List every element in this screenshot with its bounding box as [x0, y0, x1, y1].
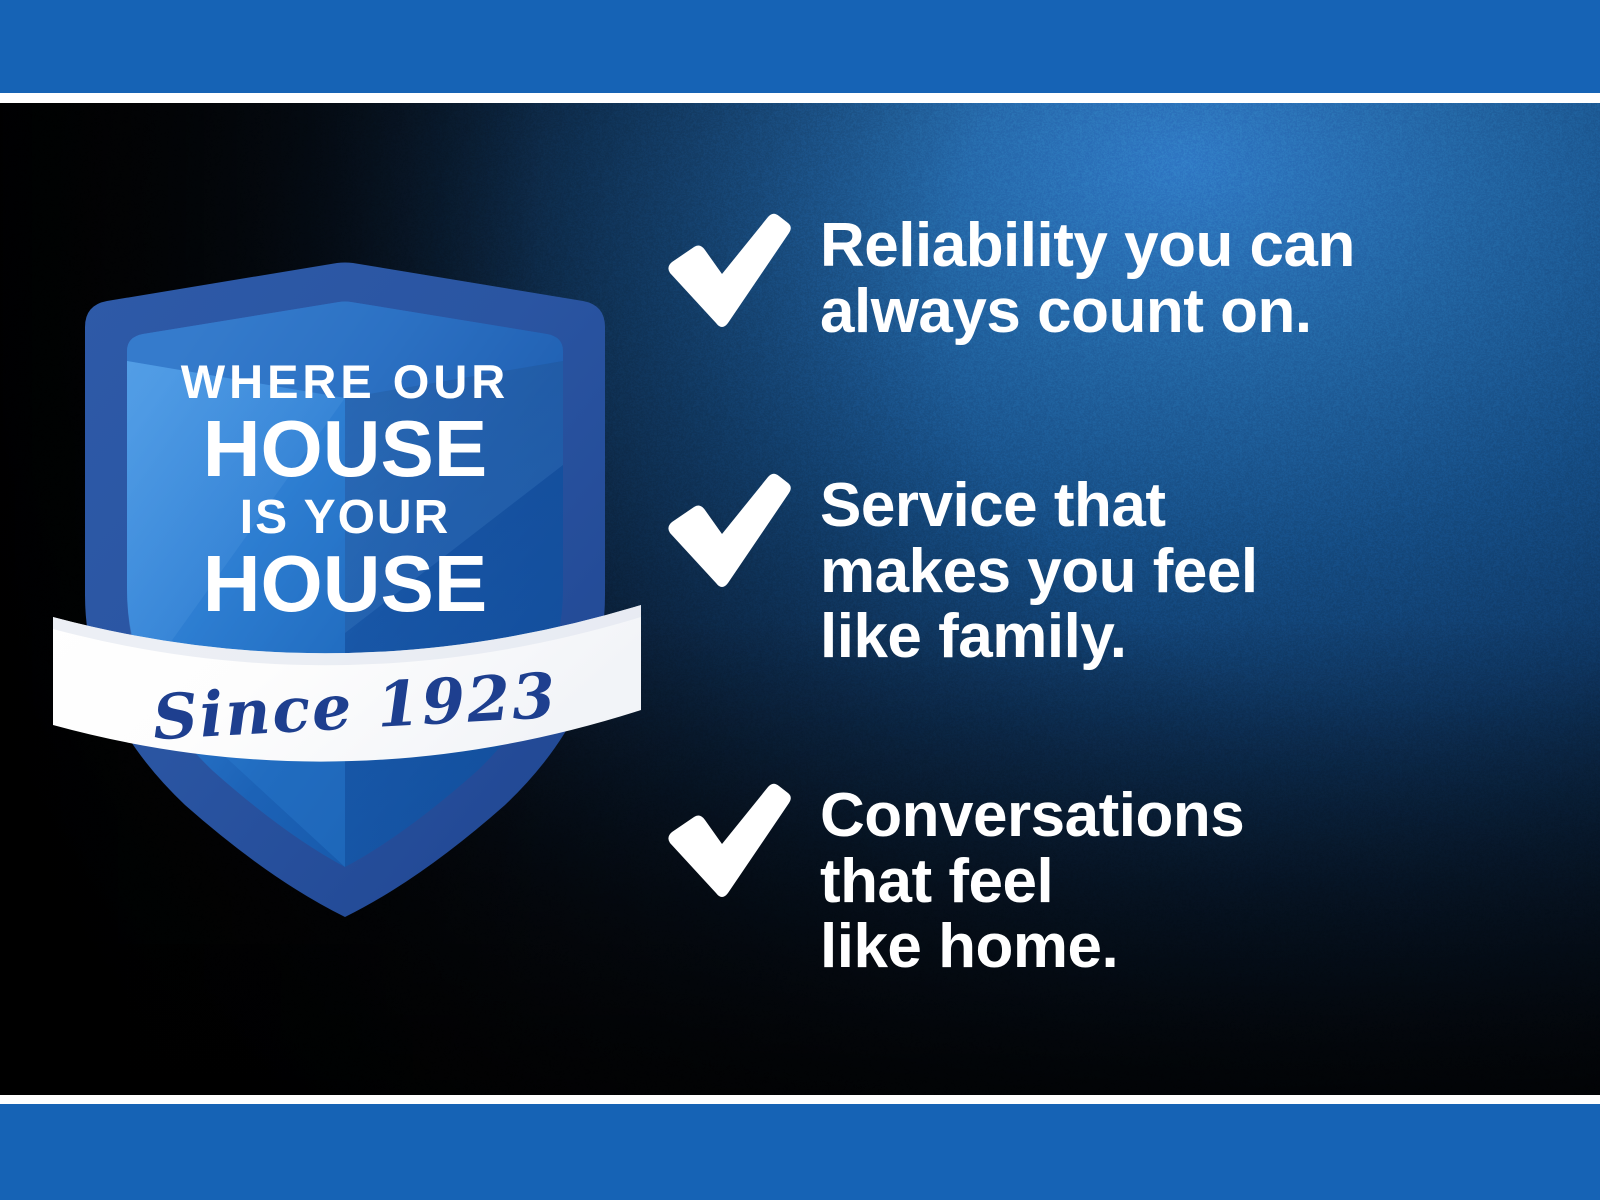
promo-graphic: WHERE OUR HOUSE IS YOUR HOUSE Since 1923…: [0, 0, 1600, 1200]
benefit-item-service: Service that makes you feel like family.: [660, 471, 1258, 670]
benefit-item-conversations: Conversations that feel like home.: [660, 781, 1244, 980]
shield-emblem: WHERE OUR HOUSE IS YOUR HOUSE Since 1923: [45, 165, 645, 845]
benefit-text-service: Service that makes you feel like family.: [820, 471, 1258, 670]
benefit-text-reliability: Reliability you can always count on.: [820, 211, 1355, 344]
benefit-1-line-2: always count on.: [820, 279, 1355, 345]
benefit-3-line-2: that feel: [820, 849, 1244, 915]
benefit-1-line-1: Reliability you can: [820, 213, 1355, 279]
benefit-2-line-1: Service that: [820, 473, 1258, 539]
benefit-2-line-2: makes you feel: [820, 539, 1258, 605]
benefit-list: Reliability you can always count on. Ser…: [660, 103, 1460, 1095]
benefit-text-conversations: Conversations that feel like home.: [820, 781, 1244, 980]
checkmark-icon: [660, 781, 792, 901]
checkmark-icon: [660, 471, 792, 591]
benefit-item-reliability: Reliability you can always count on.: [660, 211, 1355, 344]
brand-bar-bottom: [0, 1104, 1600, 1200]
benefit-3-line-3: like home.: [820, 914, 1244, 980]
benefit-2-line-3: like family.: [820, 604, 1258, 670]
brand-bar-top: [0, 0, 1600, 93]
checkmark-icon: [660, 211, 792, 331]
benefit-3-line-1: Conversations: [820, 783, 1244, 849]
